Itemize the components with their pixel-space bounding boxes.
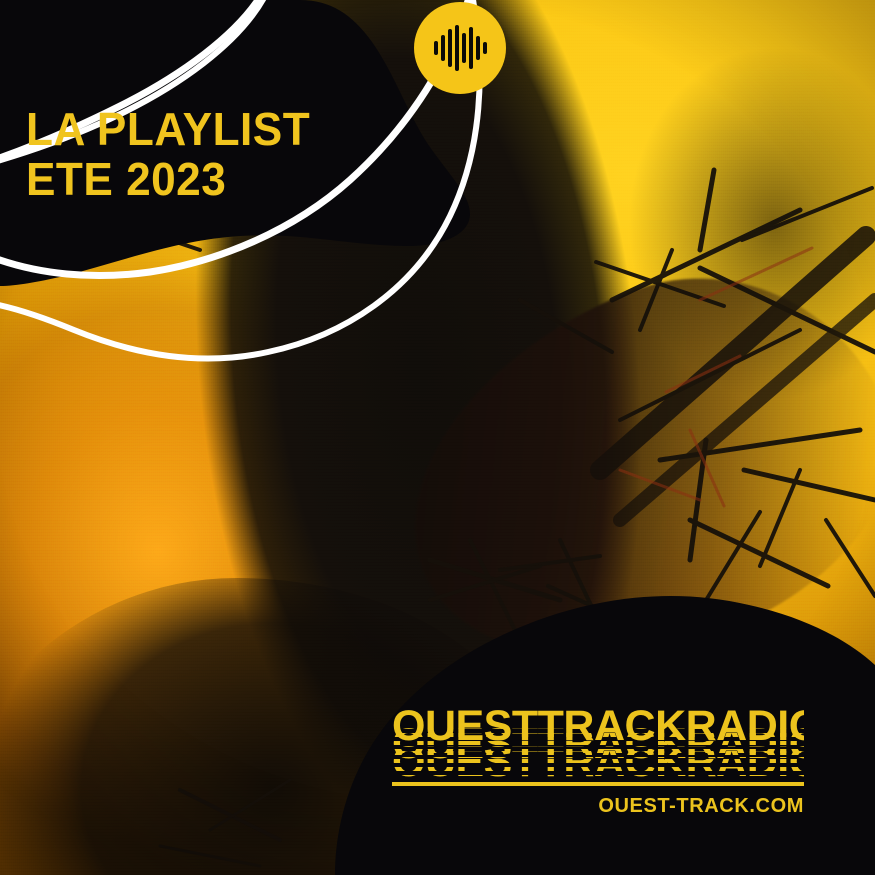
waveform-bar-5 <box>462 33 466 63</box>
title-line-2: ETE 2023 <box>26 157 310 202</box>
audio-waveform-icon <box>434 25 487 71</box>
poster-canvas: LA PLAYLIST ETE 2023 OUESTTRACKRADIO OUE… <box>0 0 875 875</box>
logo-wordmark: OUESTTRACKRADIO OUESTTRACKRADIO OUESTTRA… <box>392 702 804 780</box>
waveform-bar-6 <box>469 27 473 69</box>
page-title: LA PLAYLIST ETE 2023 <box>26 107 322 207</box>
logo-website-url[interactable]: OUEST-TRACK.COM <box>392 795 804 818</box>
waveform-bar-4 <box>455 25 459 71</box>
waveform-bar-1 <box>434 41 438 55</box>
audio-waveform-badge[interactable] <box>414 2 506 94</box>
logo-word-ouest-top-striped: OUEST <box>392 720 538 769</box>
waveform-bar-3 <box>448 29 452 67</box>
waveform-bar-2 <box>441 35 445 61</box>
logo-word-radio-top-striped: RADIO <box>686 720 804 769</box>
waveform-bar-8 <box>483 42 487 54</box>
title-line-1: LA PLAYLIST <box>26 107 310 152</box>
logo-divider-rule <box>392 782 804 786</box>
logo-word-track-top-striped: TRACK <box>538 720 686 769</box>
logo-wordmark-striped-overlay: OUESTTRACKRADIO <box>392 720 804 769</box>
station-logo[interactable]: OUESTTRACKRADIO OUESTTRACKRADIO OUESTTRA… <box>392 702 804 818</box>
waveform-bar-7 <box>476 36 480 60</box>
